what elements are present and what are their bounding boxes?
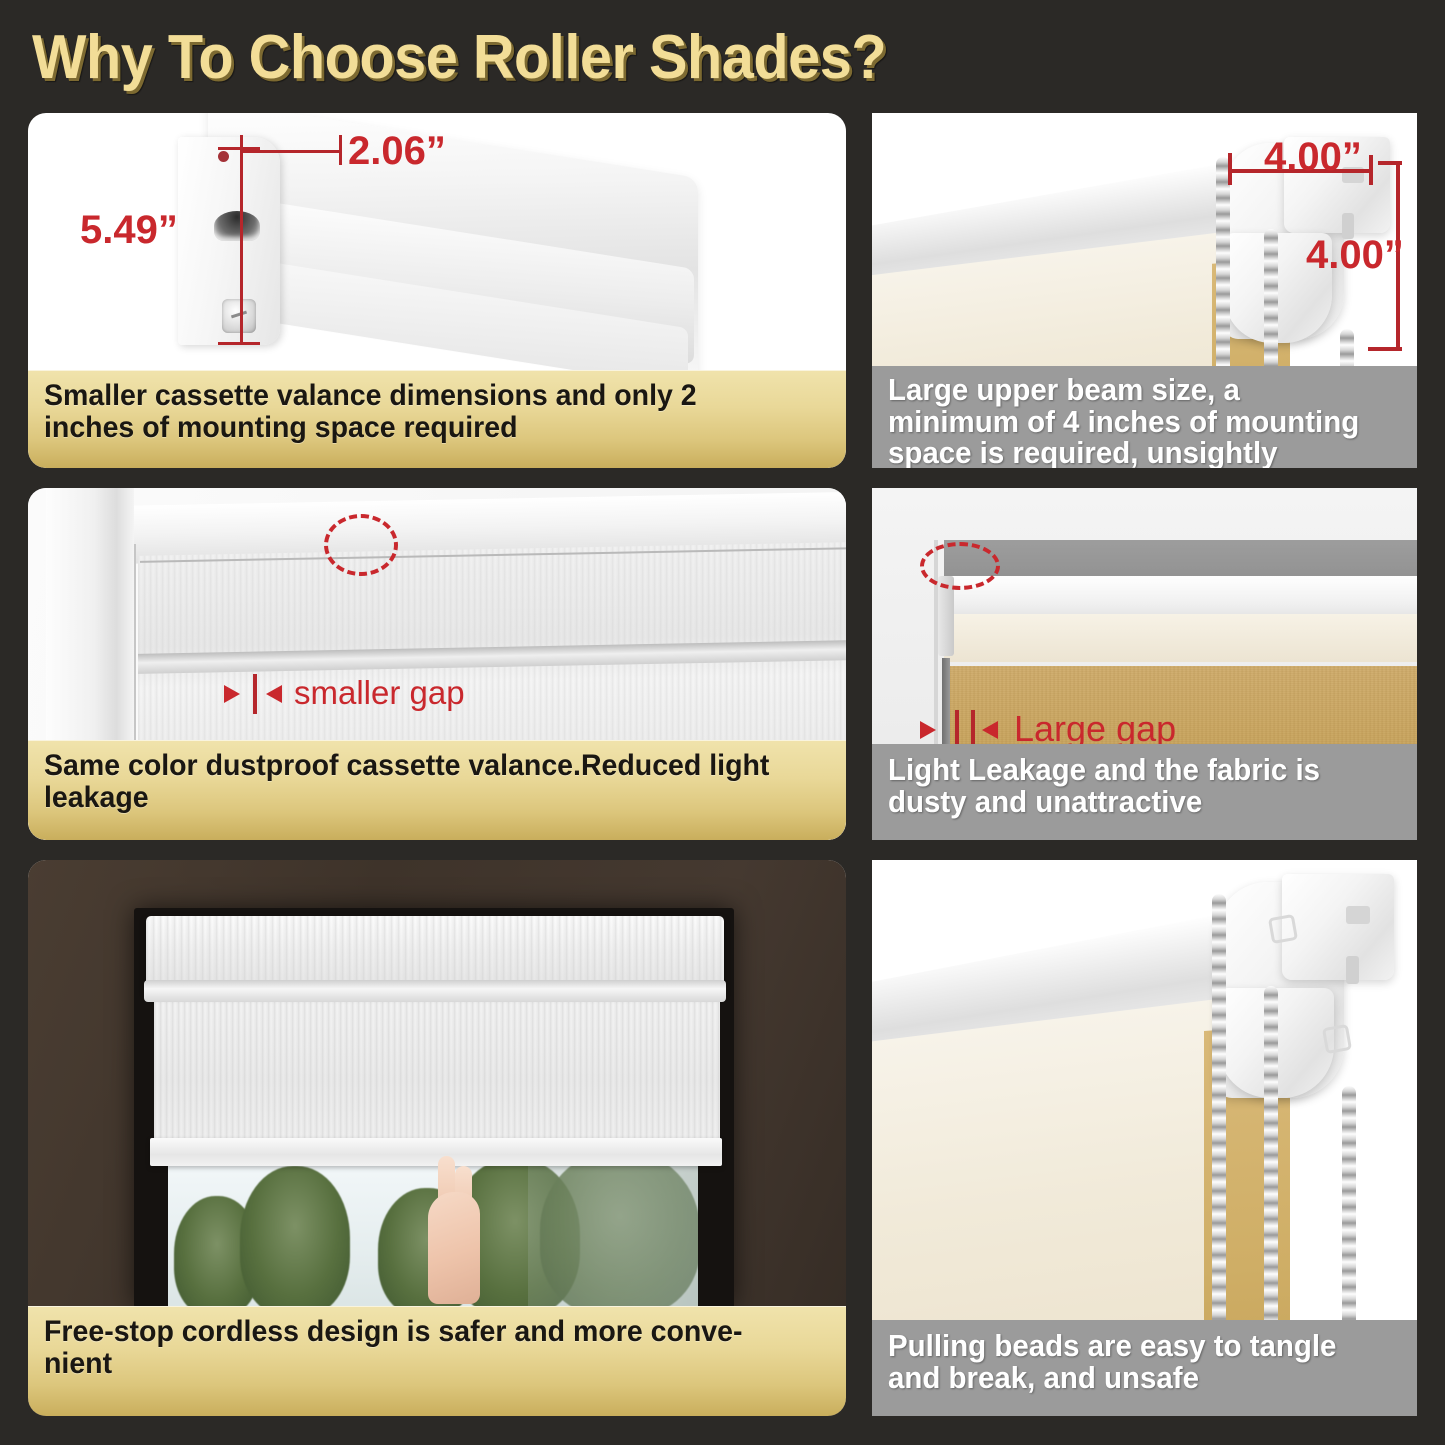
beam-width-tick-left bbox=[1228, 153, 1232, 185]
valance-lip bbox=[144, 980, 726, 1002]
end-cap-slot bbox=[214, 211, 260, 241]
panel-con-beam-size: 4.00” 4.00” Large upper beam size, a min… bbox=[872, 113, 1417, 468]
valance-cream-band bbox=[944, 614, 1417, 662]
gap-arrow-left-icon bbox=[224, 685, 240, 703]
beam-height-tick-bottom bbox=[1368, 347, 1402, 351]
panel-con-beads: Pulling beads are easy to tangle and bre… bbox=[872, 860, 1417, 1416]
panel-5-caption-text: Free-stop cordless design is safer and m… bbox=[44, 1316, 793, 1380]
width-dimension-tick-left bbox=[240, 135, 243, 157]
panel-2-caption-text: Large upper beam size, a minimum of 4 in… bbox=[888, 374, 1377, 468]
panel-3-caption-text: Same color dustproof cassette valance.Re… bbox=[44, 750, 793, 814]
gap-arrow-right-icon bbox=[982, 721, 998, 739]
width-dimension-tick-right bbox=[339, 135, 342, 165]
hand bbox=[426, 1156, 482, 1306]
end-cap-screw bbox=[222, 299, 256, 333]
comparison-grid: 5.49” 2.06” Smaller cassette valance dim… bbox=[0, 0, 1445, 1445]
panel-4-caption: Light Leakage and the fabric is dusty an… bbox=[872, 744, 1417, 840]
highlight-circle-icon bbox=[920, 542, 1000, 590]
height-dimension-tick-bottom bbox=[218, 342, 260, 345]
gap-arrow-right-icon bbox=[266, 685, 282, 703]
beam-height-tick-top bbox=[1378, 161, 1402, 165]
highlight-circle-icon bbox=[324, 514, 398, 576]
tree bbox=[240, 1166, 350, 1310]
panel-1-caption: Smaller cassette valance dimensions and … bbox=[28, 370, 846, 468]
panel-3-caption: Same color dustproof cassette valance.Re… bbox=[28, 740, 846, 840]
width-dimension-line bbox=[242, 150, 342, 153]
bracket-notch-upper bbox=[1346, 906, 1370, 924]
panel-pro-cordless: Free-stop cordless design is safer and m… bbox=[28, 860, 846, 1416]
panel-con-large-gap: Large gap Light Leakage and the fabric i… bbox=[872, 488, 1417, 840]
gap-marker-line bbox=[253, 674, 257, 714]
beam-width-label: 4.00” bbox=[1264, 135, 1362, 180]
panel-pro-cassette-size: 5.49” 2.06” Smaller cassette valance dim… bbox=[28, 113, 846, 468]
bracket-notch-lower bbox=[1346, 956, 1359, 984]
bead-chain-front bbox=[1212, 894, 1226, 1394]
gap-arrow-left-icon bbox=[920, 721, 936, 739]
panel-1-caption-text: Smaller cassette valance dimensions and … bbox=[44, 380, 793, 444]
height-dimension-line bbox=[240, 147, 243, 345]
panel-5-caption: Free-stop cordless design is safer and m… bbox=[28, 1306, 846, 1416]
beam-width-tick-right bbox=[1369, 155, 1373, 185]
height-dimension-label: 5.49” bbox=[80, 208, 178, 253]
beam-height-label: 4.00” bbox=[1306, 233, 1404, 278]
panel-pro-small-gap: smaller gap Same color dustproof cassett… bbox=[28, 488, 846, 840]
panel-6-caption-text: Pulling beads are easy to tangle and bre… bbox=[888, 1330, 1377, 1393]
small-gap-label: smaller gap bbox=[294, 674, 465, 712]
width-dimension-label: 2.06” bbox=[348, 129, 446, 174]
bracket-emblem-upper-icon bbox=[1268, 914, 1298, 944]
measure-origin-dot bbox=[218, 151, 229, 162]
panel-2-caption: Large upper beam size, a minimum of 4 in… bbox=[872, 366, 1417, 468]
screen-mesh-overlay bbox=[528, 1152, 698, 1310]
palm bbox=[428, 1192, 480, 1304]
bracket-emblem-lower-icon bbox=[1322, 1024, 1352, 1054]
panel-4-caption-text: Light Leakage and the fabric is dusty an… bbox=[888, 754, 1377, 817]
bracket-plate bbox=[1282, 874, 1394, 980]
panel-6-caption: Pulling beads are easy to tangle and bre… bbox=[872, 1320, 1417, 1416]
